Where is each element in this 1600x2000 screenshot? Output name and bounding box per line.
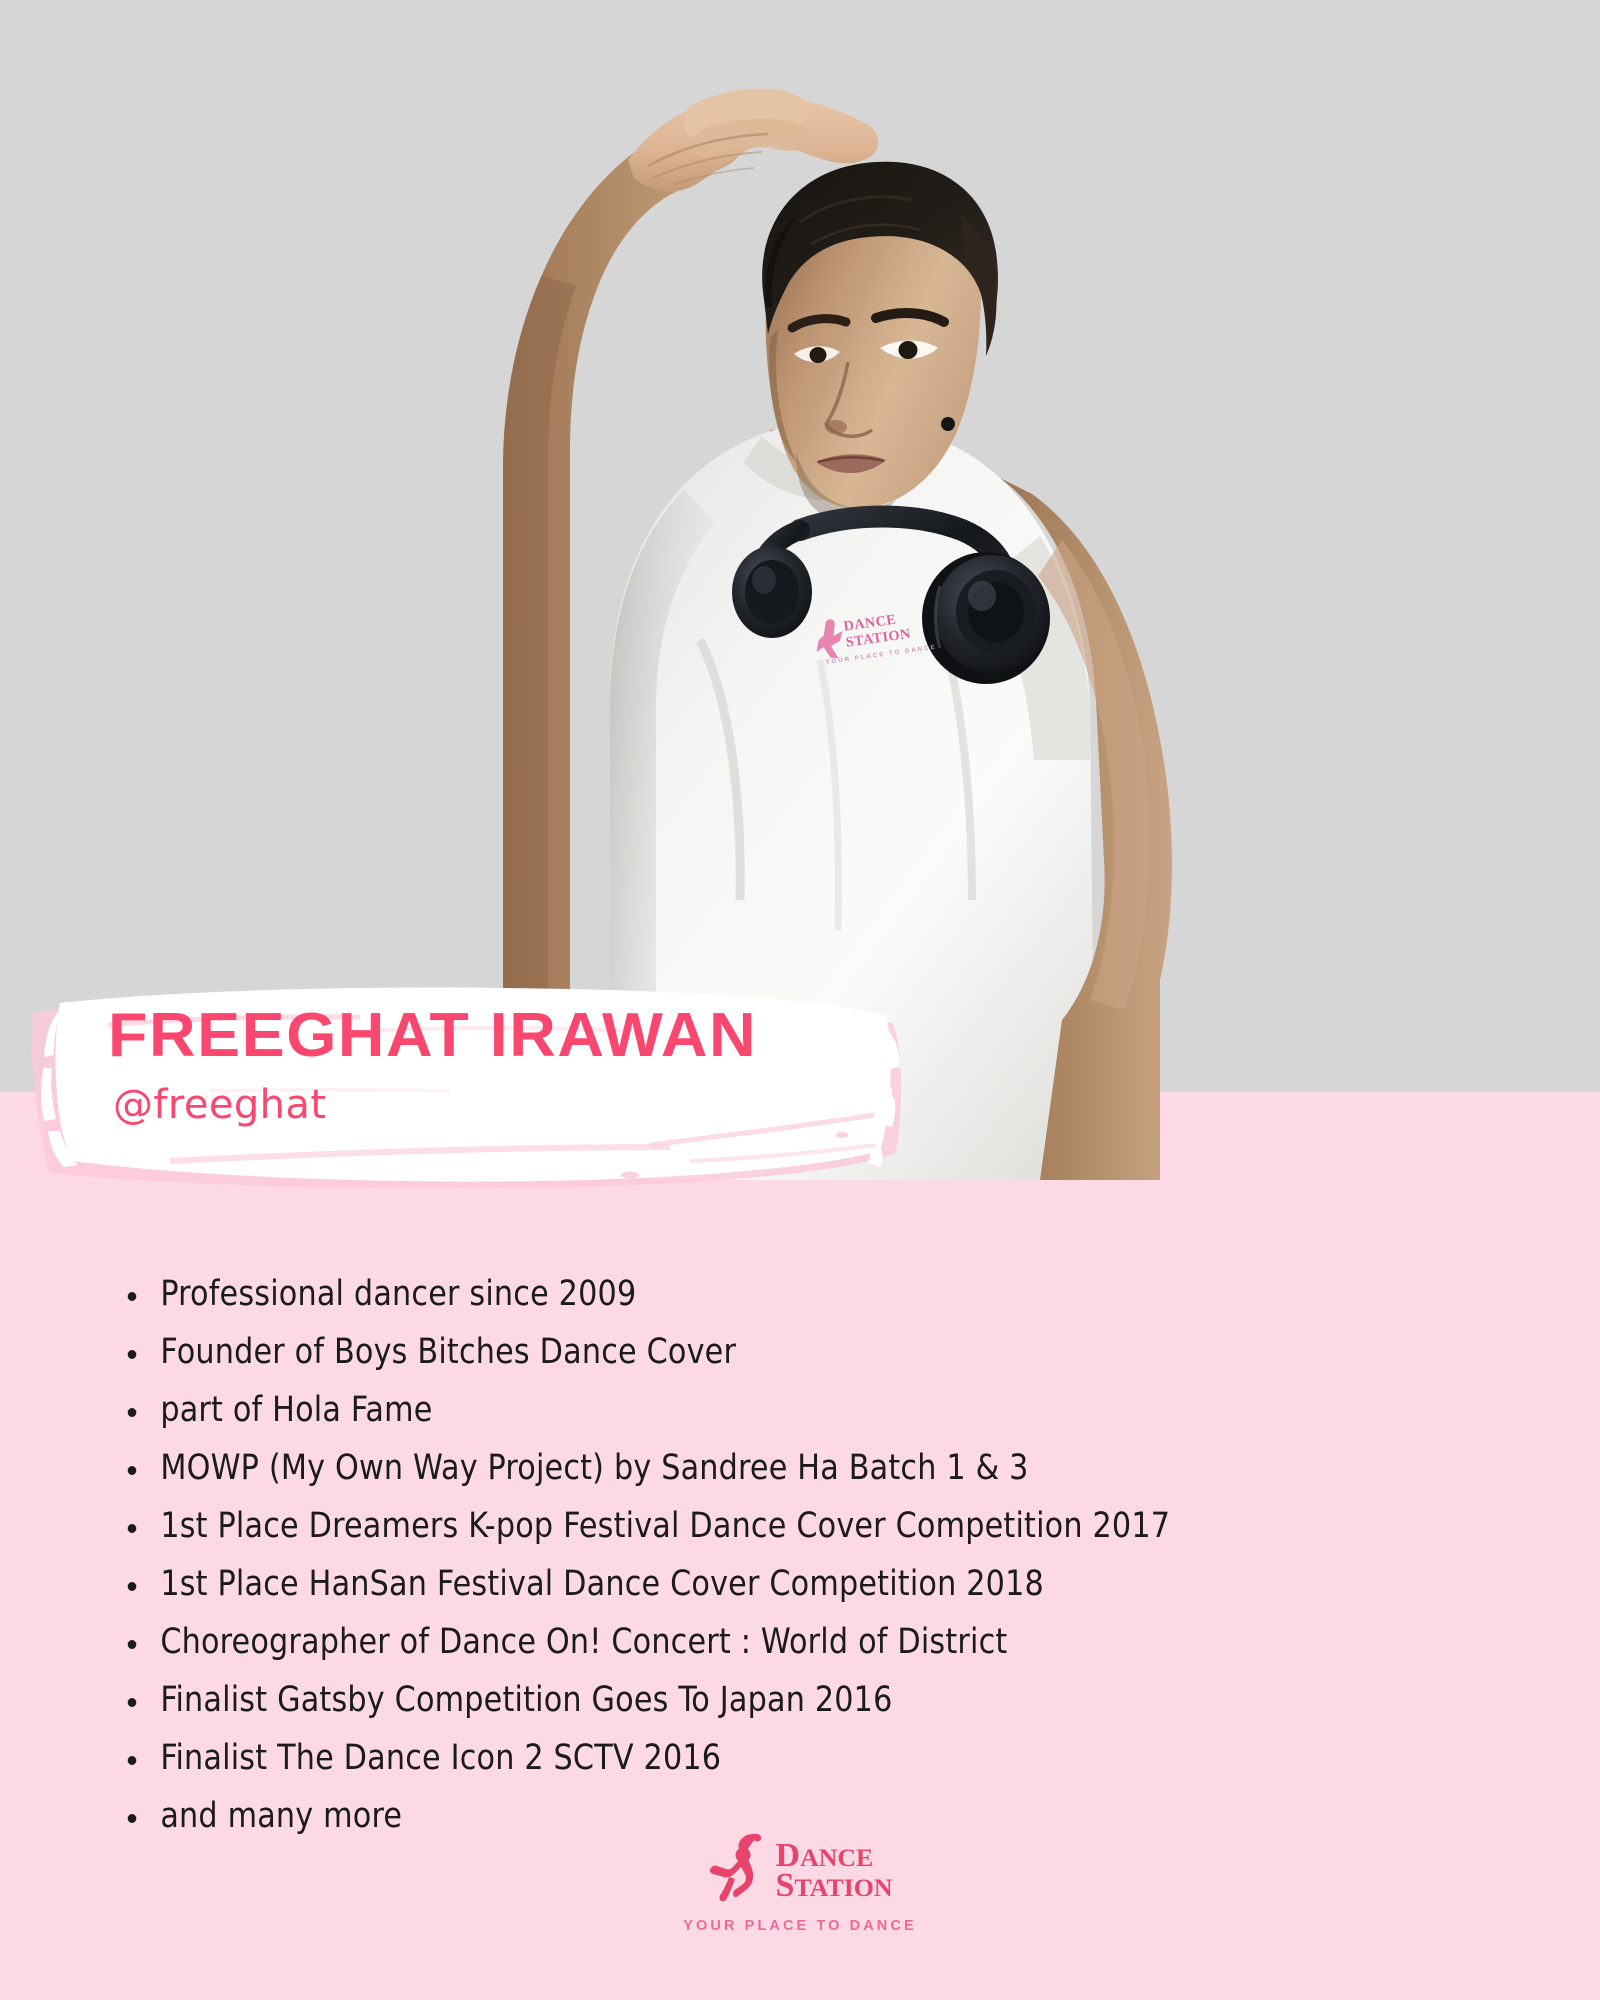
list-item: Finalist The Dance Icon 2 SCTV 2016: [120, 1736, 1445, 1781]
logo-tagline: YOUR PLACE TO DANCE: [670, 1918, 930, 1934]
list-item: Finalist Gatsby Competition Goes To Japa…: [120, 1678, 1445, 1723]
profile-poster: DANCE STATION YOUR PLACE TO DANCE: [0, 0, 1600, 2000]
list-item: Founder of Boys Bitches Dance Cover: [120, 1330, 1445, 1375]
list-item: MOWP (My Own Way Project) by Sandree Ha …: [120, 1446, 1445, 1491]
dance-station-logo: DANCE STATION YOUR PLACE TO DANCE: [670, 1832, 930, 1934]
list-item: 1st Place HanSan Festival Dance Cover Co…: [120, 1562, 1445, 1607]
profile-handle: @freeghat: [113, 1085, 326, 1125]
list-item: 1st Place Dreamers K-pop Festival Dance …: [120, 1504, 1445, 1549]
bio-list: Professional dancer since 2009 Founder o…: [120, 1272, 1500, 1852]
list-item: Choreographer of Dance On! Concert : Wor…: [120, 1620, 1445, 1665]
list-item: part of Hola Fame: [120, 1388, 1445, 1433]
page-title: FREEGHAT IRAWAN: [108, 1005, 757, 1067]
logo-word-station: STATION: [776, 1871, 893, 1900]
dancer-silhouette-icon: [708, 1832, 770, 1909]
list-item: Professional dancer since 2009: [120, 1272, 1445, 1317]
